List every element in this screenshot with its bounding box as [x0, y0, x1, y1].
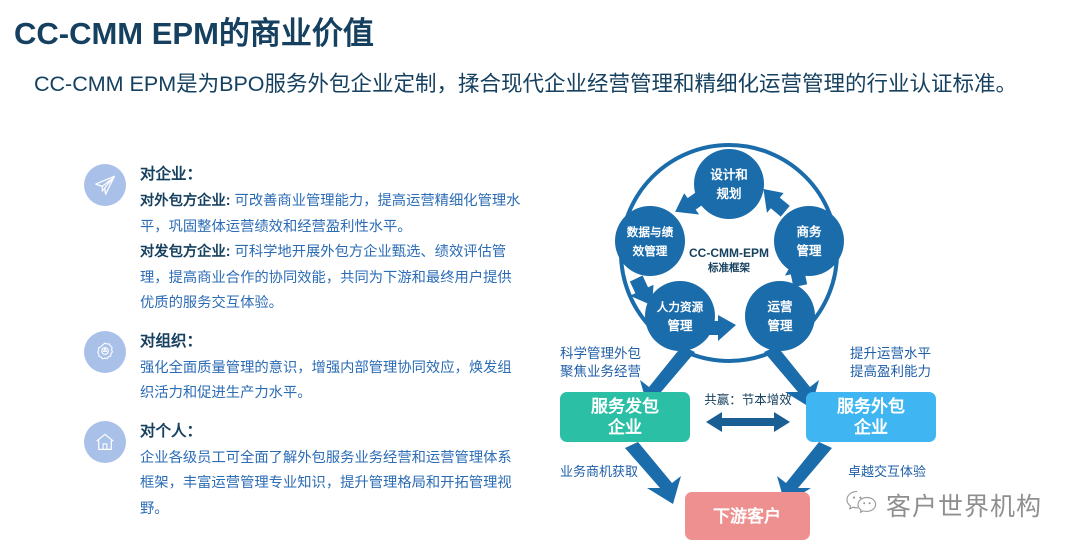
cycle-node-design-planning: 设计和 规划: [694, 149, 764, 219]
watermark: 客户世界机构: [845, 487, 1042, 523]
left-caption: 科学管理外包 聚焦业务经营: [560, 346, 641, 379]
outsourcing-client-box: 服务发包 企业: [560, 392, 690, 442]
wechat-icon: [845, 489, 879, 522]
svg-text:企业: 企业: [607, 417, 642, 437]
cycle-node-business-management: 商务 管理: [774, 206, 844, 276]
svg-text:提高盈利能力: 提高盈利能力: [850, 363, 931, 379]
benefit-heading: 对企业：: [140, 162, 524, 188]
svg-text:CC-CMM-EPM: CC-CMM-EPM: [689, 246, 769, 260]
svg-text:服务发包: 服务发包: [591, 396, 659, 416]
home-icon: [84, 421, 126, 463]
diagram-center-label: CC-CMM-EPM 标准框架: [689, 246, 769, 274]
benefit-paragraph: 强化全面质量管理的意识，增强内部管理协同效应，焕发组织活力和促进生产力水平。: [140, 356, 524, 407]
gear-icon: [84, 331, 126, 373]
middle-caption: 共赢：节本增效: [704, 392, 792, 407]
cycle-node-operations-management: 运营 管理: [745, 281, 815, 351]
benefit-block-body: 对个人： 企业各级员工可全面了解外包服务业务经营和运营管理体系框架，丰富运营管理…: [140, 419, 524, 523]
right-caption: 提升运营水平 提高盈利能力: [850, 346, 931, 379]
outsourcing-vendor-box: 服务外包 企业: [806, 392, 936, 442]
benefit-block-individual: 对个人： 企业各级员工可全面了解外包服务业务经营和运营管理体系框架，丰富运营管理…: [84, 419, 524, 523]
paper-plane-icon: [84, 164, 126, 206]
svg-text:下游客户: 下游客户: [713, 506, 781, 526]
benefit-paragraph: 企业各级员工可全面了解外包服务业务经营和运营管理体系框架，丰富运营管理专业知识，…: [140, 446, 524, 523]
node-label-line1: 人力资源: [657, 300, 704, 314]
bottom-right-caption: 卓越交互体验: [848, 464, 926, 479]
node-label-line2: 效管理: [633, 244, 668, 258]
svg-text:提升运营水平: 提升运营水平: [850, 346, 931, 361]
benefit-block-enterprise: 对企业： 对外包方企业: 可改善商业管理能力，提高运营精细化管理水平，巩固整体运…: [84, 162, 524, 317]
downstream-customer-box: 下游客户: [685, 492, 810, 540]
cycle-node-data-performance-management: 数据与绩 效管理: [615, 206, 685, 276]
cycle-node-hr-management: 人力资源 管理: [645, 281, 715, 351]
benefit-heading: 对个人：: [140, 419, 524, 445]
benefit-block-list: 对企业： 对外包方企业: 可改善商业管理能力，提高运营精细化管理水平，巩固整体运…: [84, 162, 524, 532]
svg-text:标准框架: 标准框架: [707, 261, 750, 274]
bidirectional-arrow: [706, 412, 790, 432]
node-label-line2: 规划: [716, 186, 741, 201]
node-label-line1: 数据与绩: [626, 225, 674, 239]
watermark-text: 客户世界机构: [886, 487, 1042, 523]
node-label-line1: 运营: [767, 299, 793, 314]
benefit-paragraph: 对外包方企业: 可改善商业管理能力，提高运营精细化管理水平，巩固整体运营绩效和经…: [140, 189, 524, 240]
intro-paragraph: CC-CMM EPM是为BPO服务外包企业定制，揉合现代企业经营管理和精细化运营…: [34, 63, 1064, 106]
svg-text:聚焦业务经营: 聚焦业务经营: [560, 364, 641, 379]
benefit-block-organization: 对组织： 强化全面质量管理的意识，增强内部管理协同效应，焕发组织活力和促进生产力…: [84, 329, 524, 407]
benefit-heading: 对组织：: [140, 329, 524, 355]
bottom-left-caption: 业务商机获取: [560, 464, 638, 479]
svg-text:科学管理外包: 科学管理外包: [560, 346, 641, 361]
benefit-paragraph-label: 对发包方企业:: [140, 244, 231, 260]
node-label-line2: 管理: [667, 318, 693, 333]
node-label-line2: 管理: [767, 318, 793, 333]
benefit-paragraph-label: 对外包方企业:: [140, 193, 231, 209]
slide-root: CC-CMM EPM的商业价值 CC-CMM EPM是为BPO服务外包企业定制，…: [0, 0, 1079, 554]
node-label-line1: 设计和: [710, 167, 748, 182]
benefit-block-body: 对组织： 强化全面质量管理的意识，增强内部管理协同效应，焕发组织活力和促进生产力…: [140, 329, 524, 407]
benefit-block-body: 对企业： 对外包方企业: 可改善商业管理能力，提高运营精细化管理水平，巩固整体运…: [140, 162, 524, 317]
svg-text:企业: 企业: [853, 417, 888, 437]
node-label-line1: 商务: [796, 224, 822, 239]
benefit-paragraph: 对发包方企业: 可科学地开展外包方企业甄选、绩效评估管理，提高商业合作的协同效能…: [140, 240, 524, 317]
page-title: CC-CMM EPM的商业价值: [14, 8, 374, 53]
node-label-line2: 管理: [796, 243, 822, 258]
svg-text:服务外包: 服务外包: [837, 396, 905, 416]
